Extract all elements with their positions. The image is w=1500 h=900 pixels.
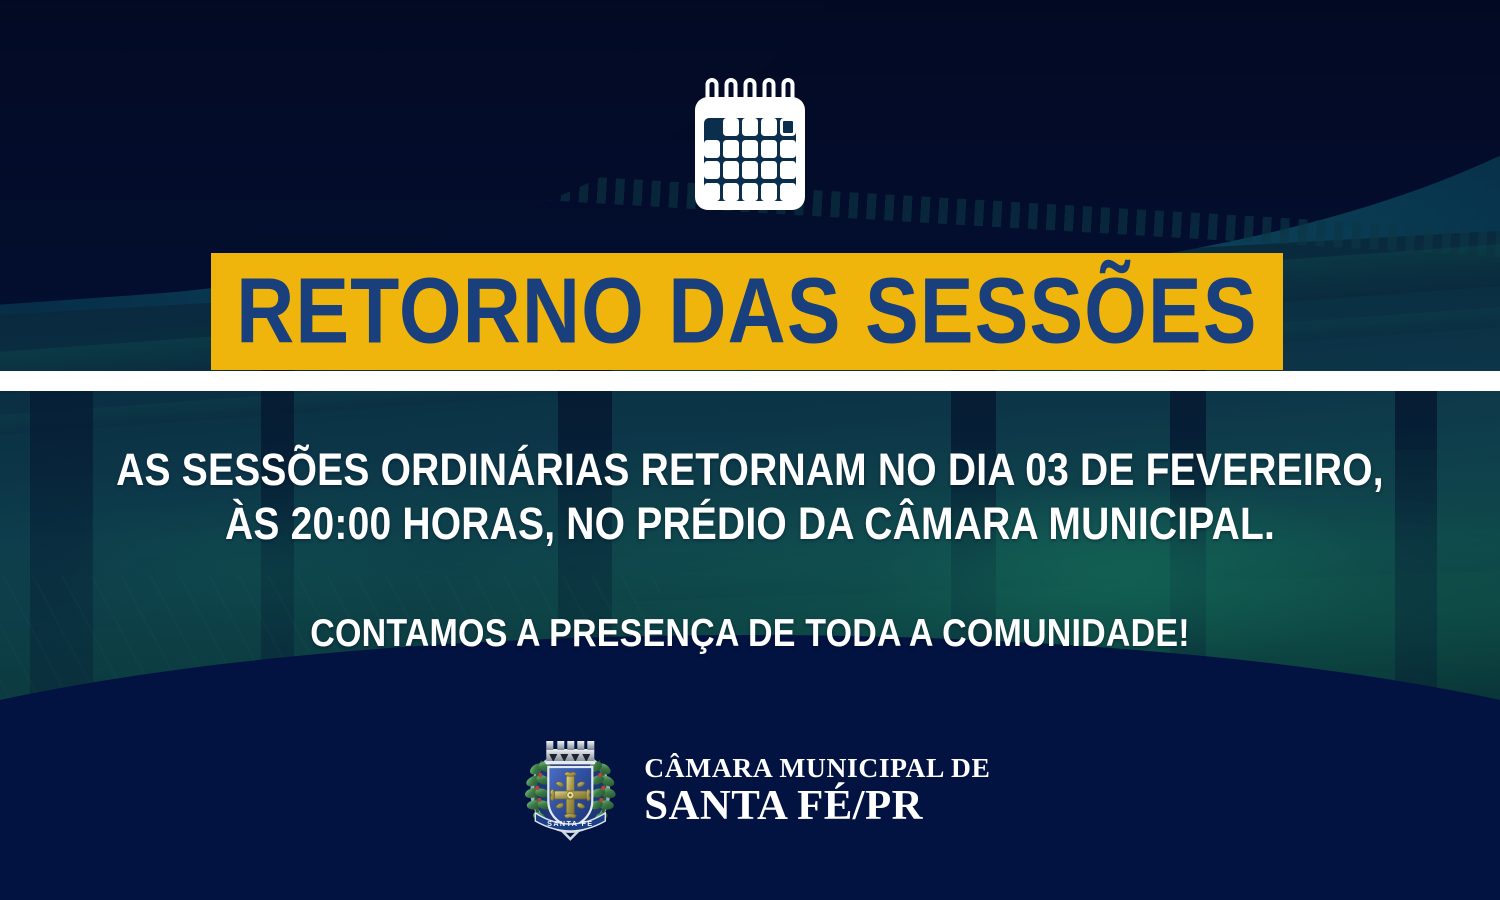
calendar-cell [723, 140, 739, 158]
calendar-cell [780, 161, 796, 179]
calendar-cell [704, 118, 720, 136]
calendar-cell [742, 161, 758, 179]
footer-text-block: CÂMARA MUNICIPAL DE SANTA FÉ/PR [644, 755, 983, 827]
coat-of-arms-icon: SANTA FE [516, 735, 624, 847]
footer-org-prefix: CÂMARA MUNICIPAL DE [644, 755, 990, 782]
mural-crown [545, 741, 595, 764]
calendar-ring-4 [763, 78, 776, 104]
announcement-poster: RETORNO DAS SESSÕES AS SESSÕES ORDINÁRIA… [0, 0, 1500, 900]
calendar-ring-1 [706, 78, 719, 104]
calendar-cell-highlighted [780, 118, 796, 136]
calendar-cell [704, 183, 720, 201]
footer-org-name: SANTA FÉ/PR [644, 785, 990, 827]
calendar-cell [723, 183, 739, 201]
call-to-action-text: CONTAMOS A PRESENÇA DE TODA A COMUNIDADE… [0, 612, 1500, 656]
calendar-ring-2 [725, 78, 738, 104]
calendar-cell [761, 183, 777, 201]
calendar-rings [706, 78, 795, 104]
calendar-cell [704, 140, 720, 158]
calendar-cell [780, 183, 796, 201]
calendar-cell [761, 161, 777, 179]
calendar-cell [761, 140, 777, 158]
calendar-day-grid [704, 118, 796, 201]
calendar-icon [689, 78, 811, 210]
calendar-ring-3 [744, 78, 757, 104]
body-copy: AS SESSÕES ORDINÁRIAS RETORNAM NO DIA 03… [0, 440, 1500, 548]
calendar-cell [742, 118, 758, 136]
calendar-cell [742, 183, 758, 201]
white-divider-stripe [0, 371, 1500, 391]
calendar-cell [742, 140, 758, 158]
poster-title: RETORNO DAS SESSÕES [236, 265, 1257, 358]
title-banner: RETORNO DAS SESSÕES [211, 253, 1283, 370]
crest-ribbon-text: SANTA FE [547, 819, 593, 828]
calendar-ring-5 [782, 78, 795, 104]
body-line-2: ÀS 20:00 HORAS, NO PRÉDIO DA CÂMARA MUNI… [0, 494, 1500, 557]
footer-logo-lockup: SANTA FE CÂMARA MUNICIPAL DE SANTA FÉ/PR [516, 735, 983, 847]
calendar-cell [704, 161, 720, 179]
calendar-cell [780, 140, 796, 158]
calendar-cell [723, 161, 739, 179]
calendar-cell [723, 118, 739, 136]
calendar-cell [761, 118, 777, 136]
